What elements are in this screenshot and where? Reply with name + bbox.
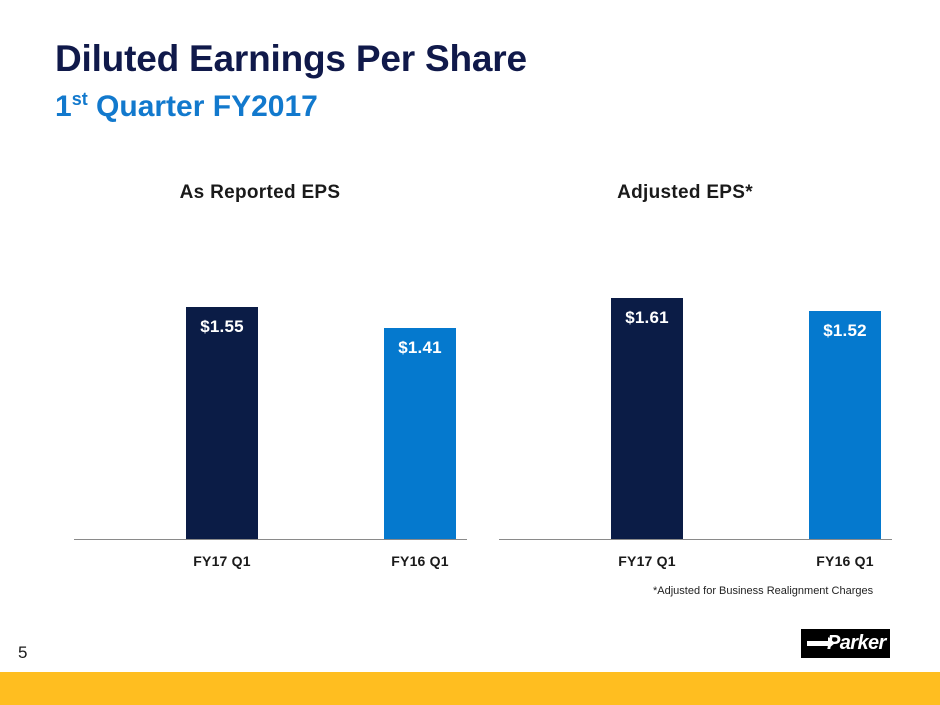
subtitle-rest: Quarter FY2017 xyxy=(88,90,318,123)
bottom-accent-bar xyxy=(0,672,940,705)
slide: Diluted Earnings Per Share 1st Quarter F… xyxy=(0,0,940,705)
page-title: Diluted Earnings Per Share xyxy=(55,38,527,80)
plot-area-as-reported: $1.55 $1.41 xyxy=(74,210,467,540)
parker-logo: Parker xyxy=(801,629,890,658)
bar-value-label: $1.41 xyxy=(384,338,456,358)
bar-fy17-q1-as-reported[interactable]: $1.55 xyxy=(186,307,258,540)
plot-area-adjusted: $1.61 $1.52 xyxy=(499,210,892,540)
chart-as-reported-eps: As Reported EPS $1.55 $1.41 FY17 Q1 FY16… xyxy=(60,170,475,570)
chart-title-as-reported: As Reported EPS xyxy=(60,182,460,204)
category-labels-as-reported: FY17 Q1 FY16 Q1 xyxy=(74,541,467,571)
category-label-fy17-q1: FY17 Q1 xyxy=(587,553,707,569)
subtitle-number: 1 xyxy=(55,90,72,123)
bar-value-label: $1.61 xyxy=(611,308,683,328)
x-axis-line xyxy=(499,539,892,540)
page-subtitle: 1st Quarter FY2017 xyxy=(55,90,318,124)
category-label-fy17-q1: FY17 Q1 xyxy=(162,553,282,569)
category-label-fy16-q1: FY16 Q1 xyxy=(785,553,905,569)
category-label-fy16-q1: FY16 Q1 xyxy=(360,553,480,569)
category-labels-adjusted: FY17 Q1 FY16 Q1 xyxy=(499,541,892,571)
bar-fy17-q1-adjusted[interactable]: $1.61 xyxy=(611,298,683,540)
chart-title-adjusted: Adjusted EPS* xyxy=(485,182,885,204)
subtitle-ordinal: st xyxy=(72,89,88,109)
chart-adjusted-eps: Adjusted EPS* $1.61 $1.52 FY17 Q1 FY16 Q… xyxy=(485,170,900,570)
bar-value-label: $1.52 xyxy=(809,321,881,341)
page-number: 5 xyxy=(18,643,27,663)
x-axis-line xyxy=(74,539,467,540)
footnote: *Adjusted for Business Realignment Charg… xyxy=(653,585,873,597)
bar-fy16-q1-adjusted[interactable]: $1.52 xyxy=(809,311,881,539)
bar-value-label: $1.55 xyxy=(186,317,258,337)
logo-text: Parker xyxy=(827,632,886,655)
arrow-right-icon xyxy=(807,641,829,646)
bar-fy16-q1-as-reported[interactable]: $1.41 xyxy=(384,328,456,540)
